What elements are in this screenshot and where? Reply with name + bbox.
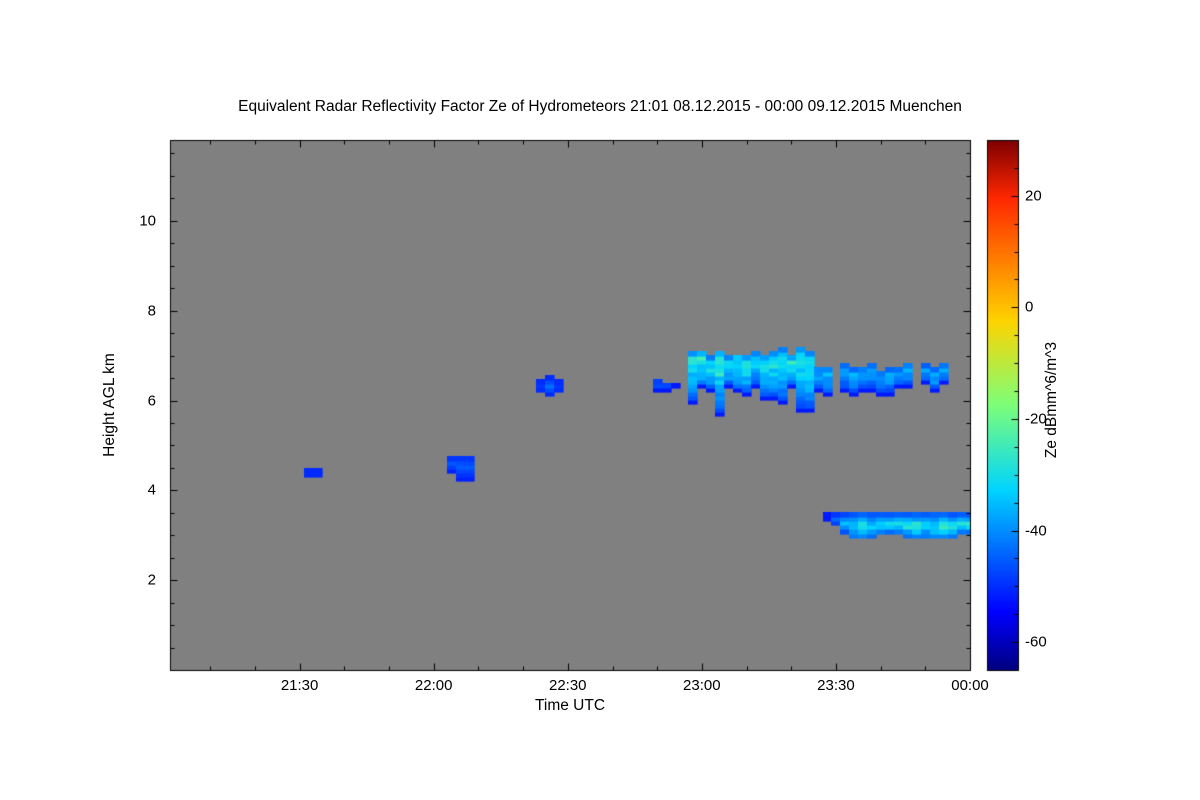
page-title: Equivalent Radar Reflectivity Factor Ze … <box>238 98 962 116</box>
colorbar-tick-label-neg20: -20 <box>1025 410 1047 427</box>
x-tick-label-0000: 00:00 <box>951 677 989 694</box>
y-tick-label-6: 6 <box>130 392 156 409</box>
colorbar-tick-label-20: 20 <box>1025 187 1042 204</box>
colorbar-tick-label-0: 0 <box>1025 299 1033 316</box>
x-tick-label-2200: 22:00 <box>415 677 453 694</box>
y-tick-label-2: 2 <box>130 572 156 589</box>
x-tick-label-2130: 21:30 <box>281 677 319 694</box>
y-tick-label-10: 10 <box>130 212 156 229</box>
y-tick-label-8: 8 <box>130 302 156 319</box>
x-tick-label-2230: 22:30 <box>549 677 587 694</box>
x-tick-label-2330: 23:30 <box>817 677 855 694</box>
y-axis-title: Height AGL km <box>101 353 119 457</box>
x-tick-label-2300: 23:00 <box>683 677 721 694</box>
colorbar-tick-label-neg60: -60 <box>1025 634 1047 651</box>
colorbar-tick-label-neg40: -40 <box>1025 522 1047 539</box>
reflectivity-heatmap-canvas <box>0 0 1200 800</box>
y-tick-label-4: 4 <box>130 482 156 499</box>
radar-figure: Equivalent Radar Reflectivity Factor Ze … <box>0 0 1200 800</box>
colorbar-title: Ze dBmm^6/m^3 <box>1043 342 1061 458</box>
x-axis-title: Time UTC <box>535 697 605 715</box>
